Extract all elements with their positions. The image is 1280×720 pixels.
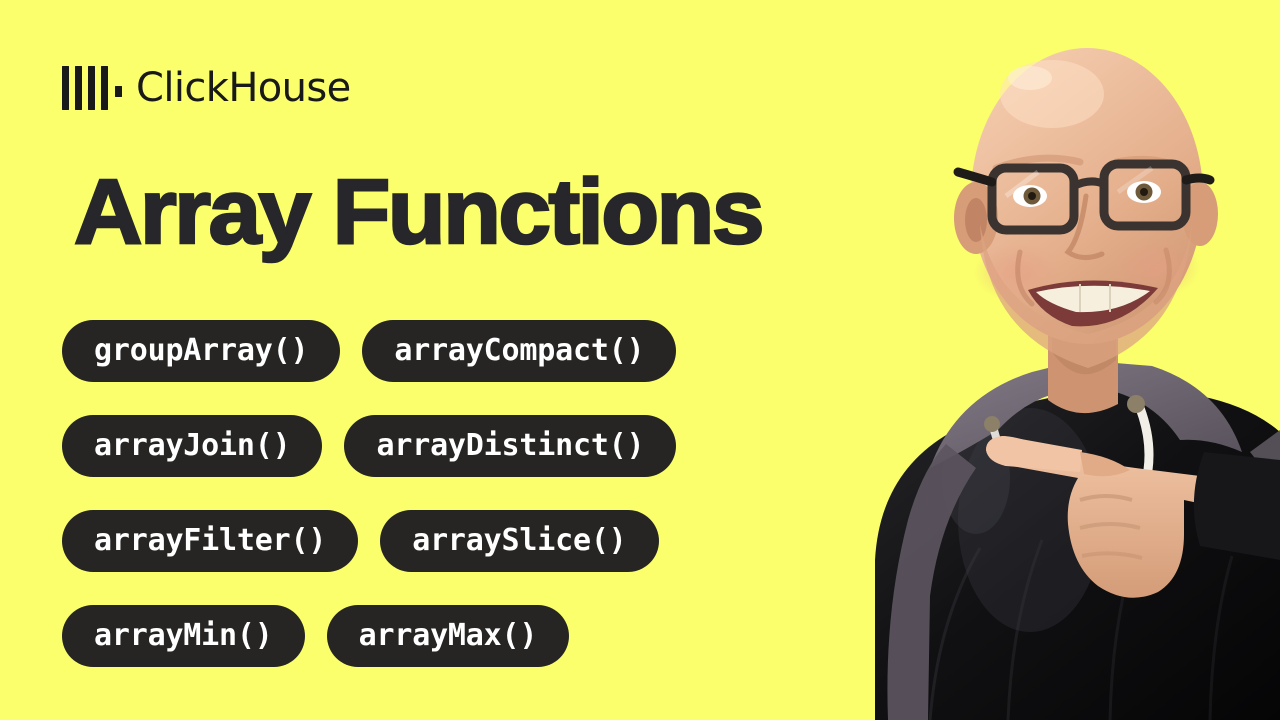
- pill-row: arrayMin() arrayMax(): [62, 605, 822, 667]
- function-pill-label: arrayMax(): [359, 621, 538, 651]
- mouth: [1028, 280, 1158, 326]
- logo-bar: [101, 66, 108, 110]
- function-pill-label: arrayDistinct(): [376, 431, 644, 461]
- clickhouse-logo-icon: [62, 66, 122, 110]
- presenter-photo: [780, 0, 1280, 720]
- logo-dot: [115, 86, 122, 97]
- function-pill[interactable]: arrayCompact(): [362, 320, 676, 382]
- function-pill[interactable]: arrayJoin(): [62, 415, 322, 477]
- teeth: [1036, 286, 1150, 312]
- logo-bar: [75, 66, 82, 110]
- pill-row: groupArray() arrayCompact(): [62, 320, 822, 382]
- function-pill-grid: groupArray() arrayCompact() arrayJoin() …: [62, 320, 822, 667]
- pointing-hand: [986, 436, 1280, 598]
- function-pill[interactable]: arraySlice(): [380, 510, 658, 572]
- function-pill-label: arrayMin(): [94, 621, 273, 651]
- hoodie-collar: [887, 360, 1280, 720]
- function-pill-label: arrayFilter(): [94, 526, 326, 556]
- logo-bar: [62, 66, 69, 110]
- brand-wordmark: ClickHouse: [136, 68, 351, 108]
- drawstring: [984, 395, 1149, 470]
- brand-lockup: ClickHouse: [62, 62, 351, 114]
- function-pill[interactable]: arrayFilter(): [62, 510, 358, 572]
- logo-bar: [88, 66, 95, 110]
- page-title: Array Functions: [74, 164, 762, 260]
- jacket-shape: [875, 392, 1280, 720]
- function-pill[interactable]: arrayDistinct(): [344, 415, 676, 477]
- pill-row: arrayJoin() arrayDistinct(): [62, 415, 822, 477]
- glasses-icon: [958, 164, 1210, 230]
- function-pill-label: arraySlice(): [412, 526, 626, 556]
- thumbnail-canvas: ClickHouse Array Functions groupArray() …: [0, 0, 1280, 720]
- head: [954, 48, 1218, 368]
- function-pill-label: arrayJoin(): [94, 431, 290, 461]
- function-pill[interactable]: arrayMax(): [327, 605, 570, 667]
- function-pill-label: groupArray(): [94, 336, 308, 366]
- function-pill[interactable]: groupArray(): [62, 320, 340, 382]
- function-pill[interactable]: arrayMin(): [62, 605, 305, 667]
- function-pill-label: arrayCompact(): [394, 336, 644, 366]
- neck: [1048, 330, 1118, 413]
- pill-row: arrayFilter() arraySlice(): [62, 510, 822, 572]
